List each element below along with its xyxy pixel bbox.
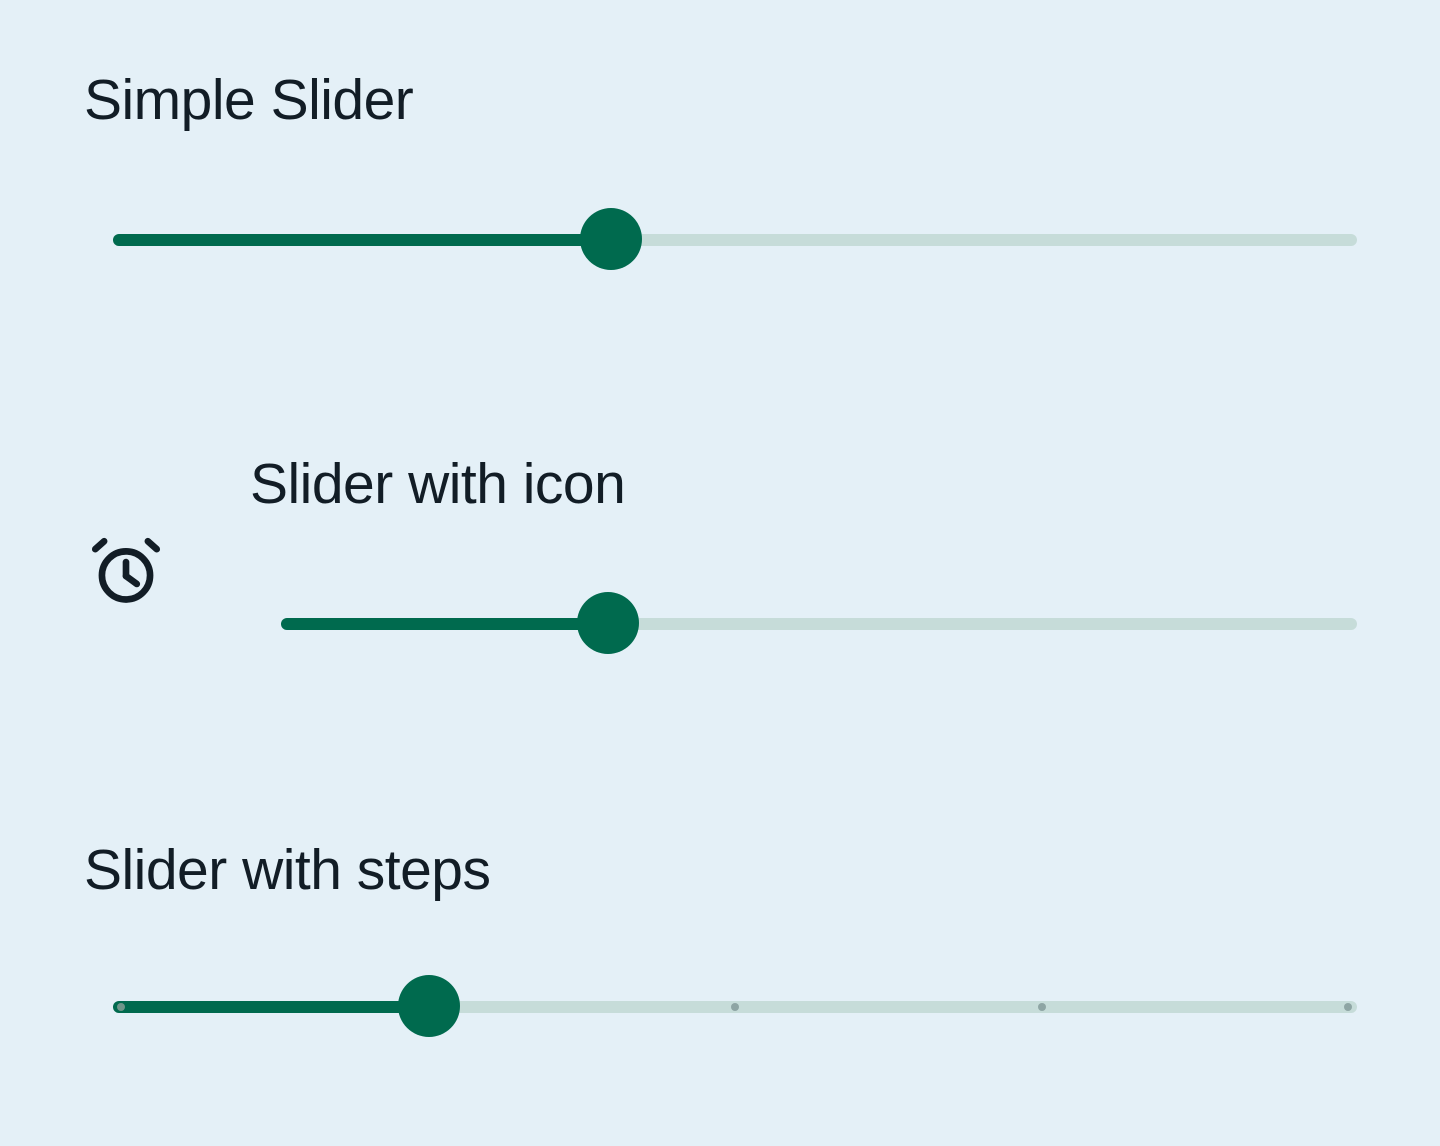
slider-thumb[interactable] [580,208,642,270]
slider-track-active[interactable] [113,1001,429,1013]
slider-step-dot[interactable] [1344,1003,1352,1011]
slider-with-steps[interactable] [113,975,1357,1039]
slider-label-with-icon: Slider with icon [250,456,625,513]
slider-step-dot[interactable] [1038,1003,1046,1011]
slider-simple[interactable] [113,208,1357,272]
slider-section-with-icon: Slider with icon [0,380,1440,760]
slider-step-dot[interactable] [117,1003,125,1011]
alarm-clock-icon [88,533,164,609]
slider-step-dot[interactable] [731,1003,739,1011]
slider-thumb[interactable] [398,975,460,1037]
slider-section-with-steps: Slider with steps [0,760,1440,1146]
slider-demo-page: Simple Slider Slider with icon Slider [0,0,1440,1146]
slider-section-simple: Simple Slider [0,0,1440,380]
slider-label-with-steps: Slider with steps [84,842,491,899]
slider-label-simple: Simple Slider [84,72,413,129]
slider-thumb[interactable] [577,592,639,654]
slider-track-active[interactable] [113,234,611,246]
slider-with-icon[interactable] [281,592,1357,656]
slider-track-active[interactable] [281,618,608,630]
